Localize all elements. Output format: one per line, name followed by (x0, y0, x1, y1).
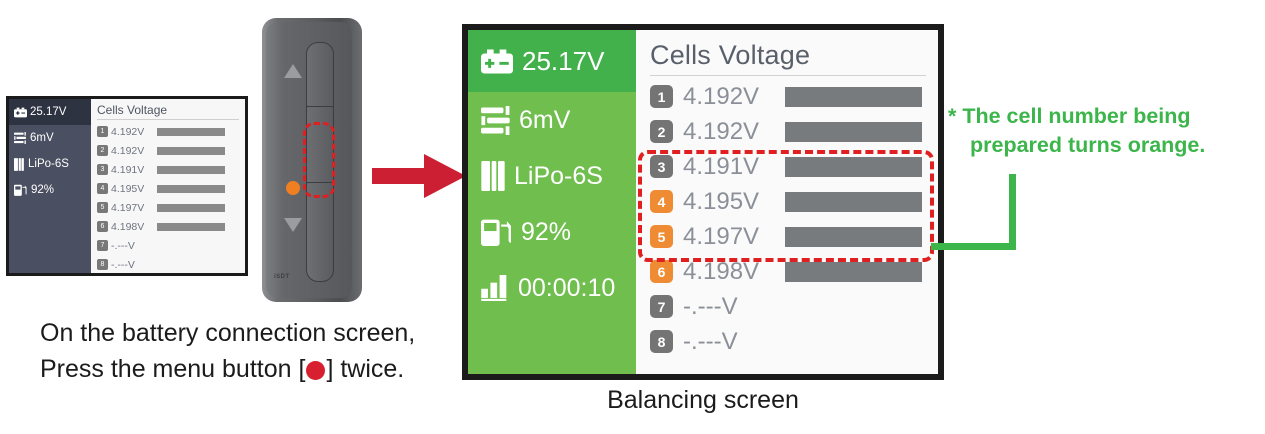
big-battery-type-value: LiPo-6S (514, 162, 603, 191)
big-capacity-value: 92% (521, 218, 571, 247)
small-cell-list: 14.192V24.192V34.191V44.195V54.197V64.19… (97, 122, 239, 274)
big-cell-number-badge: 8 (650, 330, 673, 353)
device-logo: iSDT (274, 274, 290, 280)
callout-line-vertical (1009, 174, 1016, 250)
big-delta-voltage-row: 6mV (468, 92, 636, 148)
orange-menu-dot-icon[interactable] (286, 181, 300, 195)
small-cell-voltage: 4.192V (111, 126, 154, 138)
small-cell-voltage: 4.192V (111, 145, 154, 157)
small-cell-bar (157, 223, 225, 231)
big-cell-number-badge: 6 (650, 260, 673, 283)
big-cell-number-badge: 7 (650, 295, 673, 318)
small-cell-row: 44.195V (97, 179, 239, 198)
battery-icon (14, 107, 27, 118)
callout-line-horizontal (931, 243, 1015, 250)
device-up-key[interactable] (306, 42, 334, 108)
small-cell-number-badge: 3 (97, 164, 108, 175)
big-cell-row: 7-.---V (650, 289, 926, 324)
annotation-line1: The cell number being (962, 104, 1190, 128)
menu-key-highlight-box (303, 122, 335, 198)
small-cell-number-badge: 5 (97, 202, 108, 213)
big-screen-cells-panel: Cells Voltage 14.192V24.192V34.191V44.19… (636, 30, 938, 374)
small-cell-number-badge: 4 (97, 183, 108, 194)
big-screen-status-panel: 25.17V 6mV (468, 30, 636, 374)
small-cell-number-badge: 7 (97, 240, 108, 251)
big-elapsed-time-value: 00:00:10 (518, 274, 615, 303)
balancing-screen: 25.17V 6mV (462, 24, 944, 380)
small-battery-type-row: LiPo-6S (9, 151, 91, 177)
cells-stack-icon (14, 158, 24, 171)
big-cell-voltage: -.---V (683, 293, 779, 321)
charger-device: iSDT (262, 18, 362, 302)
triangle-up-icon (284, 64, 302, 78)
big-cell-bar (785, 122, 922, 142)
small-cell-bar (157, 166, 225, 174)
big-cell-row: 8-.---V (650, 324, 926, 359)
small-screen-status-panel: 25.17V 6mV (9, 99, 91, 273)
small-delta-voltage-value: 6mV (30, 132, 54, 144)
small-delta-voltage-row: 6mV (9, 125, 91, 151)
menu-button-dot-icon (306, 361, 325, 380)
small-cell-number-badge: 6 (97, 221, 108, 232)
left-caption-line1: On the battery connection screen, (40, 316, 450, 352)
big-cell-voltage: 4.192V (683, 83, 779, 111)
fuel-pump-icon (481, 218, 512, 246)
small-cell-bar (157, 147, 225, 155)
big-pack-voltage-row: 25.17V (468, 30, 636, 92)
small-cell-row: 64.198V (97, 217, 239, 236)
annotation-marker: * (948, 104, 956, 128)
right-arrow-icon (372, 152, 468, 200)
left-caption-line2-after: ] twice. (326, 355, 404, 383)
small-cell-row: 14.192V (97, 122, 239, 141)
big-elapsed-time-row: 00:00:10 (468, 260, 636, 316)
small-cell-number-badge: 2 (97, 145, 108, 156)
cells-stack-icon (481, 161, 505, 191)
big-cell-row: 24.192V (650, 114, 926, 149)
big-cell-bar (785, 87, 922, 107)
small-cell-row: 54.197V (97, 198, 239, 217)
small-cells-title: Cells Voltage (97, 103, 239, 120)
small-capacity-value: 92% (31, 184, 54, 196)
small-cell-voltage: -.---V (111, 259, 154, 271)
balance-sliders-icon (14, 132, 26, 144)
small-cell-row: 34.191V (97, 160, 239, 179)
active-cells-highlight-box (638, 150, 934, 262)
small-cell-row: 8-.---V (97, 255, 239, 274)
small-cell-voltage: -.---V (111, 240, 154, 252)
big-capacity-row: 92% (468, 204, 636, 260)
big-pack-voltage-value: 25.17V (522, 46, 604, 77)
small-cell-number-badge: 8 (97, 259, 108, 270)
small-cell-number-badge: 1 (97, 126, 108, 137)
battery-icon (481, 49, 513, 74)
left-caption: On the battery connection screen, Press … (40, 316, 450, 387)
small-cell-row: 24.192V (97, 141, 239, 160)
small-screen-cells-panel: Cells Voltage 14.192V24.192V34.191V44.19… (91, 99, 245, 273)
annotation-line2: prepared turns orange. (948, 131, 1260, 160)
big-cell-bar (785, 262, 922, 282)
small-capacity-row: 92% (9, 177, 91, 203)
big-cell-row: 14.192V (650, 79, 926, 114)
big-cell-voltage: -.---V (683, 328, 779, 356)
big-cells-title: Cells Voltage (650, 40, 926, 76)
annotation-note: * The cell number being prepared turns o… (948, 102, 1260, 160)
battery-connection-screen: 25.17V 6mV (6, 96, 248, 276)
big-cell-number-badge: 2 (650, 120, 673, 143)
small-cell-row: 7-.---V (97, 236, 239, 255)
small-pack-voltage-row: 25.17V (9, 99, 91, 125)
big-cell-voltage: 4.192V (683, 118, 779, 146)
balance-sliders-icon (481, 106, 510, 135)
big-delta-voltage-value: 6mV (519, 106, 570, 135)
bar-chart-icon (481, 275, 509, 301)
small-pack-voltage-value: 25.17V (30, 106, 66, 118)
small-cell-bar (157, 185, 225, 193)
big-screen-caption: Balancing screen (462, 386, 944, 415)
small-cell-voltage: 4.198V (111, 221, 154, 233)
left-caption-line2: Press the menu button [] twice. (40, 352, 450, 388)
small-battery-type-value: LiPo-6S (28, 158, 69, 170)
triangle-down-icon (284, 218, 302, 232)
big-battery-type-row: LiPo-6S (468, 148, 636, 204)
small-cell-bar (157, 204, 225, 212)
small-cell-voltage: 4.195V (111, 183, 154, 195)
left-caption-line2-before: Press the menu button [ (40, 355, 305, 383)
small-cell-bar (157, 128, 225, 136)
small-cell-voltage: 4.191V (111, 164, 154, 176)
small-cell-voltage: 4.197V (111, 202, 154, 214)
big-cell-number-badge: 1 (650, 85, 673, 108)
fuel-pump-icon (14, 184, 27, 196)
